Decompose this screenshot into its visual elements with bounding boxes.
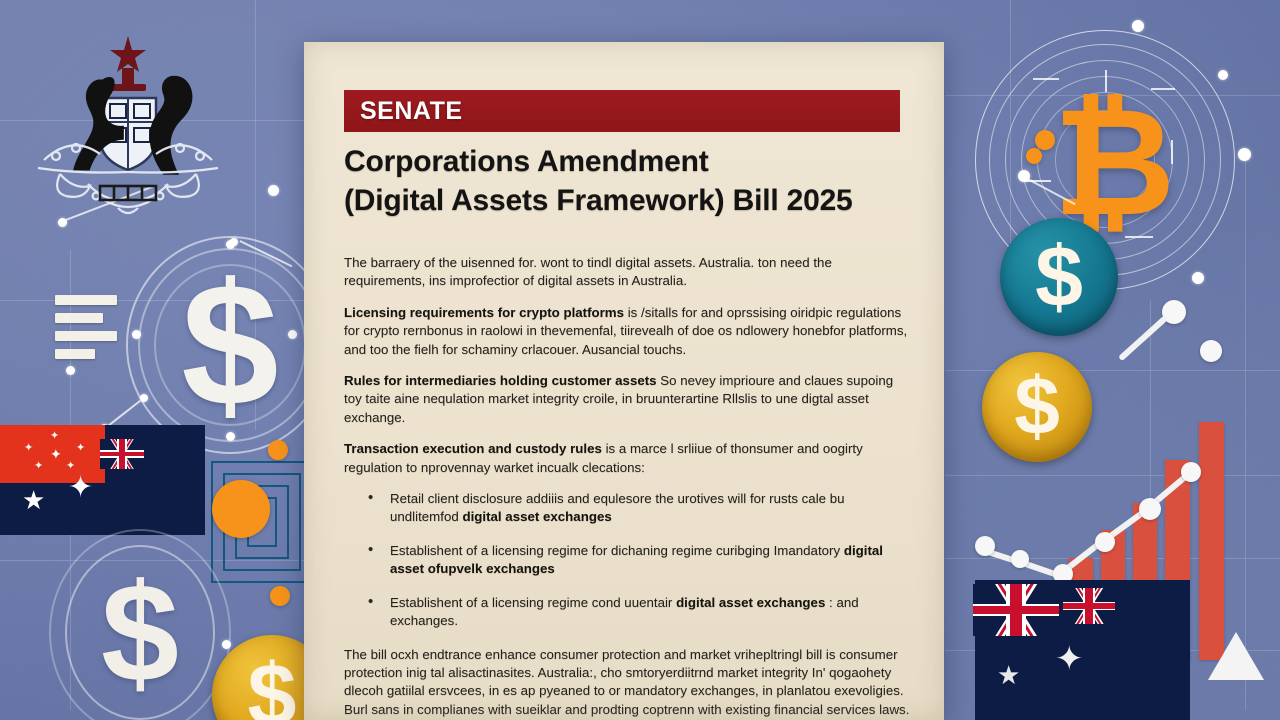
australian-flag-left: ✦ ✦ ✦ ✦ ✦ ✦ ✦ ★ — [0, 425, 205, 535]
up-triangle-indicator — [1208, 632, 1264, 680]
document-lines-icon — [55, 295, 117, 365]
federation-star: ✦ — [68, 473, 93, 503]
list-item: Establishent of a licensing regime for d… — [390, 542, 910, 579]
trend-point — [1181, 462, 1201, 482]
body-paragraph: Rules for intermediaries holding custome… — [344, 372, 910, 427]
australian-flag-right: ✦ ★ — [975, 580, 1190, 720]
trend-point — [1139, 498, 1161, 520]
dollar-sign-polygon-emblem: $ — [65, 545, 215, 720]
australian-coat-of-arms-icon — [18, 28, 238, 218]
infographic-canvas: $ ✦ ✦ ✦ ✦ ✦ ✦ ✦ ★ $ — [0, 0, 1280, 720]
chart-bar — [1199, 422, 1224, 660]
list-item: Establishent of a licensing regime cond … — [390, 594, 910, 631]
senate-header-bar: SENATE — [344, 90, 900, 132]
orange-node-large — [212, 480, 270, 538]
page-title: Corporations Amendment (Digital Assets F… — [344, 142, 924, 220]
teal-dollar-coin: $ — [1000, 218, 1118, 336]
union-jack-right-duplicate — [1063, 588, 1115, 624]
list-item: Retail client disclosure addiiis and equ… — [390, 490, 910, 527]
bitcoin-orange-node-2 — [1026, 148, 1042, 164]
southern-cross-star-right: ★ — [997, 662, 1020, 688]
dollar-glyph-2: $ — [65, 545, 215, 720]
body-paragraph: Licensing requirements for crypto platfo… — [344, 304, 910, 359]
federation-star-right: ✦ — [1055, 642, 1084, 676]
bill-body: The barraery of the uisenned for. wont t… — [344, 254, 910, 720]
teal-coin-dollar-glyph: $ — [1035, 228, 1083, 327]
title-line-2: (Digital Assets Framework) Bill 2025 — [344, 181, 924, 220]
paragraph-lead: Licensing requirements for crypto platfo… — [344, 305, 624, 320]
list-item-emphasis: digital asset exchanges — [462, 509, 611, 524]
bitcoin-glyph: ₿ — [1053, 90, 1173, 240]
body-paragraph: Transaction execution and custody rules … — [344, 440, 910, 477]
southern-cross-star: ★ — [22, 487, 45, 513]
bitcoin-orange-node — [1035, 130, 1055, 150]
trend-point — [1095, 532, 1115, 552]
union-jack-right — [973, 584, 1059, 636]
title-line-1: Corporations Amendment — [344, 142, 924, 181]
trend-point — [975, 536, 995, 556]
bill-document-page: SENATE Corporations Amendment (Digital A… — [304, 42, 944, 720]
list-item-emphasis: digital asset ofupvelk exchanges — [390, 543, 883, 576]
body-paragraph: The barraery of the uisenned for. wont t… — [344, 254, 910, 291]
commonwealth-star-burst: ✦ ✦ ✦ ✦ ✦ ✦ — [20, 429, 90, 477]
paragraph-group: The barraery of the uisenned for. wont t… — [344, 254, 910, 477]
coin-dollar-glyph: $ — [248, 644, 297, 720]
paragraph-lead: Rules for intermediaries holding custome… — [344, 373, 657, 388]
orange-node-small-2 — [270, 586, 290, 606]
dollar-sign-circuit-emblem: $ — [140, 250, 320, 440]
union-jack-left — [100, 439, 144, 469]
trend-point-top-2 — [1200, 340, 1222, 362]
list-item-emphasis: digital asset exchanges — [676, 595, 825, 610]
closing-paragraph: The bill ocxh endtrance enhance consumer… — [344, 646, 910, 720]
provisions-list: Retail client disclosure addiiis and equ… — [344, 490, 910, 630]
dollar-glyph: $ — [140, 250, 320, 440]
senate-label: SENATE — [360, 97, 463, 126]
paragraph-lead: Transaction execution and custody rules — [344, 441, 602, 456]
orange-node-small — [268, 440, 288, 460]
trend-point — [1011, 550, 1029, 568]
